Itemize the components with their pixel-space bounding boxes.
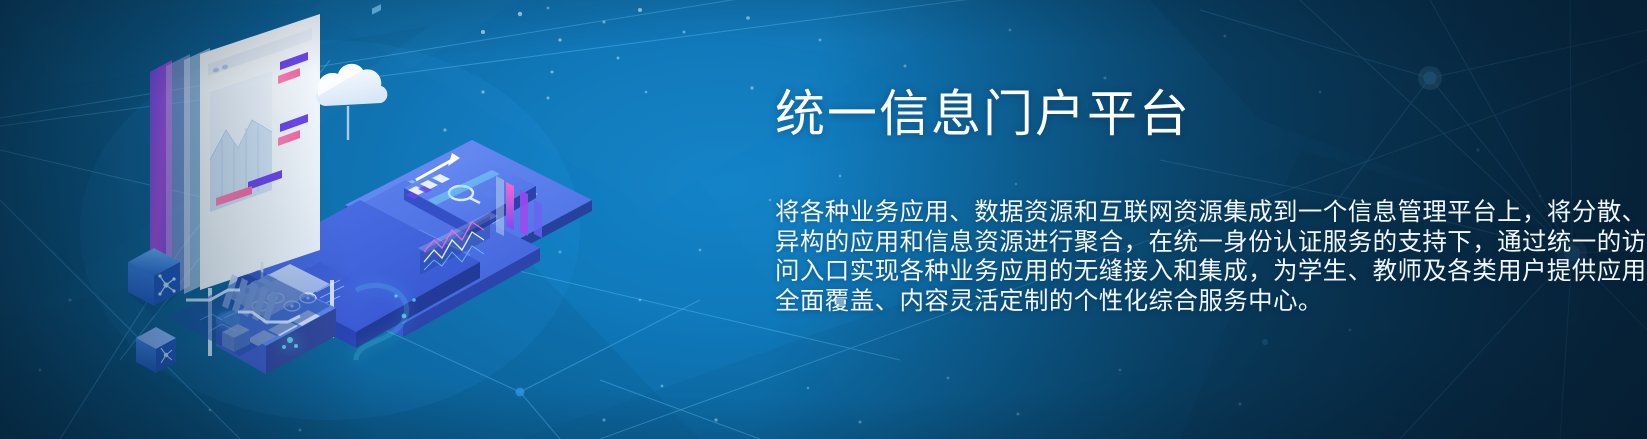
page-title: 统一信息门户平台 xyxy=(775,86,1475,142)
page-description: 将各种业务应用、数据资源和互联网资源集成到一个信息管理平台上，将分散、 异构的应… xyxy=(775,142,1475,316)
hero-copy-block: 统一信息门户平台 将各种业务应用、数据资源和互联网资源集成到一个信息管理平台上，… xyxy=(775,86,1475,316)
description-line: 问入口实现各种业务应用的无缝接入和集成，为学生、教师及各类用户提供应用 xyxy=(775,257,1475,287)
hero-banner: 统一信息门户平台 将各种业务应用、数据资源和互联网资源集成到一个信息管理平台上，… xyxy=(0,0,1647,439)
description-line: 异构的应用和信息资源进行聚合，在统一身份认证服务的支持下，通过统一的访 xyxy=(775,228,1475,258)
description-line: 将各种业务应用、数据资源和互联网资源集成到一个信息管理平台上，将分散、 xyxy=(775,198,1475,228)
description-line: 全面覆盖、内容灵活定制的个性化综合服务中心。 xyxy=(775,287,1475,317)
